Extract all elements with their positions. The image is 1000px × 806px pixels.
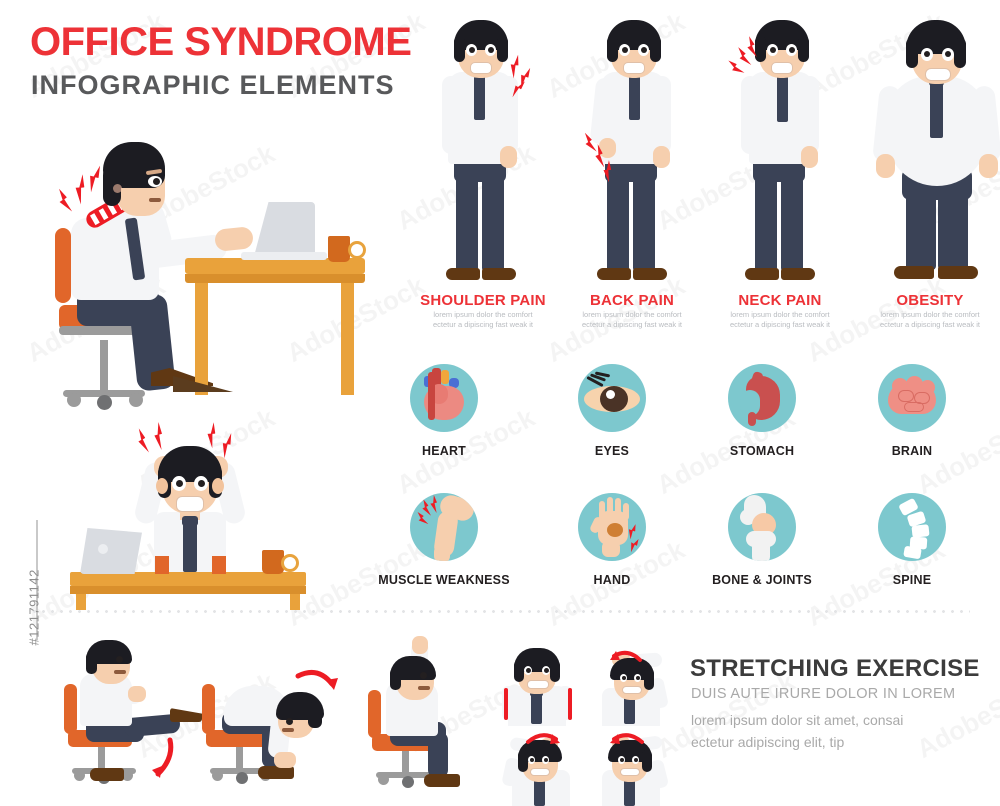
organ-label-hand: HAND <box>552 573 672 587</box>
stretch-arrow-icon <box>140 736 180 780</box>
watermark-id: #121791142 <box>27 526 42 646</box>
scene-stretch-shoulder <box>498 648 578 724</box>
scene-stretch-bend <box>200 640 360 800</box>
figure-neck-pain <box>725 20 835 285</box>
scene-stretch-leg <box>58 640 218 800</box>
stretching-title: STRETCHING EXERCISE <box>690 655 980 683</box>
organ-label-eyes: EYES <box>552 444 672 458</box>
organ-label-stomach: STOMACH <box>702 444 822 458</box>
scene-stress <box>62 420 362 600</box>
scene-stretch-arm-up <box>360 636 520 804</box>
condition-label-3: OBESITY <box>840 292 1000 309</box>
organ-label-spine: SPINE <box>852 573 972 587</box>
scene-stretch-side <box>586 648 672 724</box>
figure-obesity <box>872 18 1000 286</box>
organ-label-bone-joints: BONE & JOINTS <box>694 573 830 587</box>
stretch-arrow-icon <box>504 688 508 720</box>
scene-stretch-head-hold <box>586 730 672 804</box>
stretching-subtitle: DUIS AUTE IRURE DOLOR IN LOREM <box>691 686 955 702</box>
scene-desk-slouch <box>45 140 365 410</box>
organ-icon-brain[interactable] <box>878 364 946 432</box>
figure-shoulder-pain <box>428 20 538 285</box>
organ-icon-eyes[interactable] <box>578 364 646 432</box>
organ-icon-heart[interactable] <box>410 364 478 432</box>
page-subtitle: INFOGRAPHIC ELEMENTS <box>31 72 395 99</box>
organ-icon-spine[interactable] <box>878 493 946 561</box>
organ-icon-bone-joints[interactable] <box>728 493 796 561</box>
organ-icon-stomach[interactable] <box>728 364 796 432</box>
organ-icon-hand[interactable] <box>578 493 646 561</box>
organ-label-muscle-weakness: MUSCLE WEAKNESS <box>374 573 514 587</box>
stretch-arrow-icon <box>568 688 572 720</box>
stretch-arrow-icon <box>608 648 644 666</box>
stretch-arrow-icon <box>524 730 562 748</box>
figure-back-pain <box>577 20 687 285</box>
section-divider <box>30 610 970 613</box>
stretch-arrow-icon <box>608 730 646 748</box>
condition-desc-3: lorem ipsum dolor the comfort ectetur a … <box>840 310 1000 330</box>
page-title: OFFICE SYNDROME <box>30 22 411 62</box>
scene-stretch-head-tilt <box>498 730 584 804</box>
organ-label-brain: BRAIN <box>852 444 972 458</box>
organ-label-heart: HEART <box>384 444 504 458</box>
stretch-arrow-icon <box>292 666 340 702</box>
stretching-body: lorem ipsum dolor sit amet, consai ectet… <box>691 710 981 753</box>
organ-icon-muscle-weakness[interactable] <box>410 493 478 561</box>
infographic-canvas: AdobeStockAdobeStockAdobeStockAdobeStock… <box>0 0 1000 804</box>
